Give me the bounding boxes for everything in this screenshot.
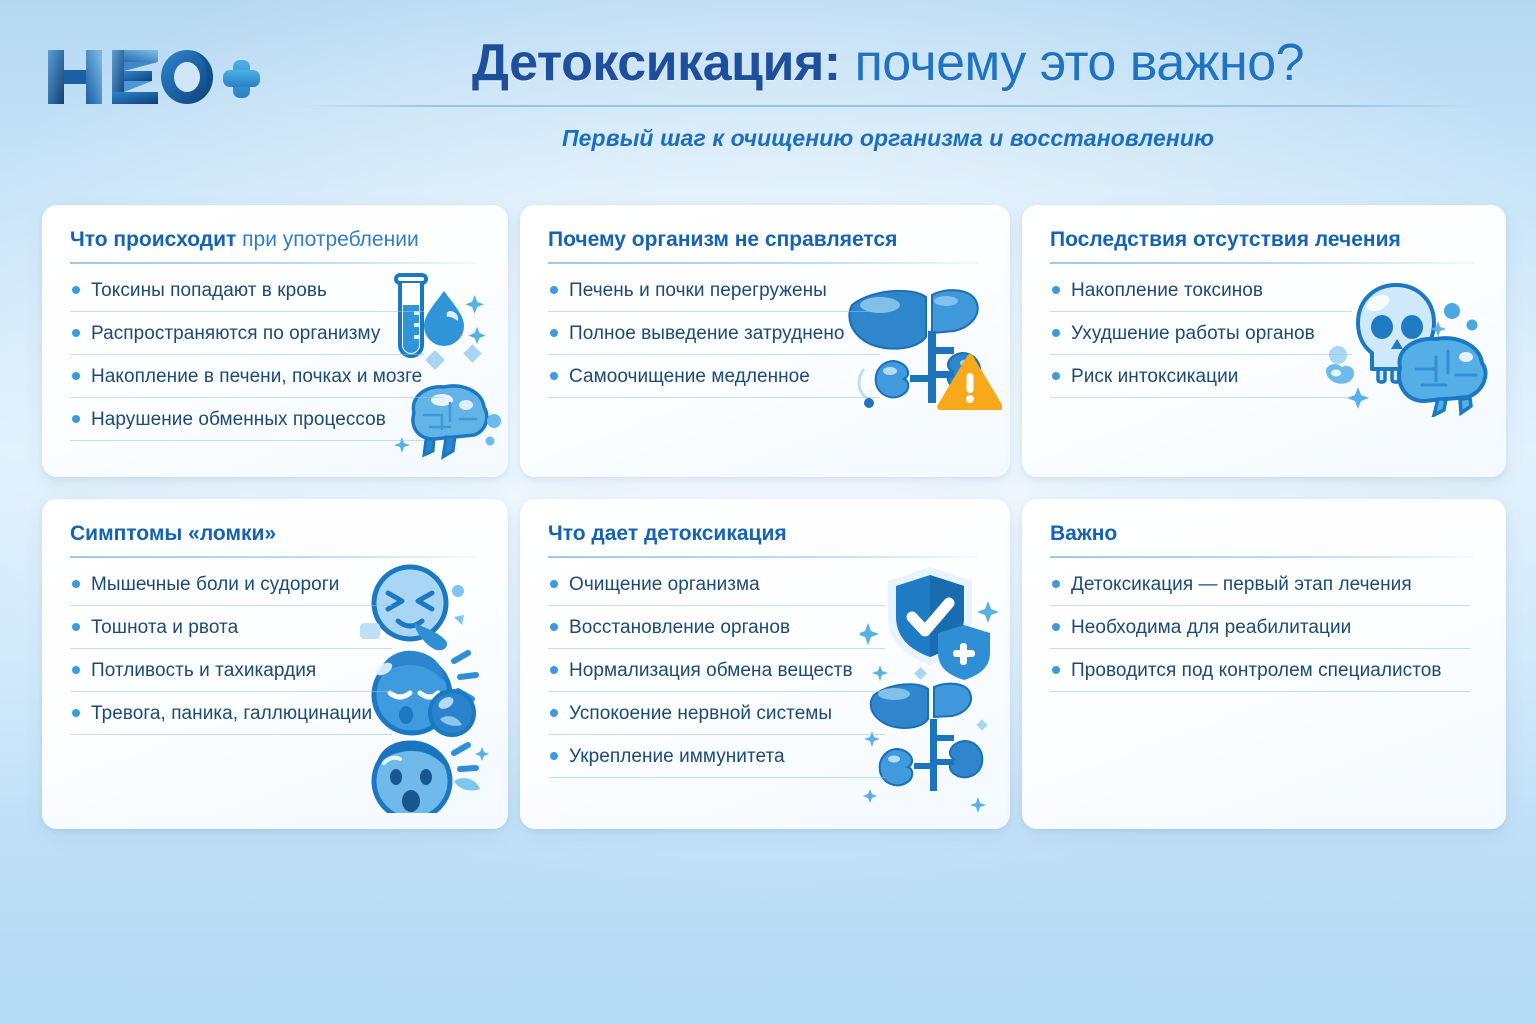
bullet-icon bbox=[72, 329, 80, 337]
card-items: Очищение организма Восстановление органо… bbox=[548, 574, 986, 778]
list-item-label: Полное выведение затруднено bbox=[569, 323, 845, 345]
card-why-body-fails: Почему организм не справляется bbox=[520, 205, 1010, 477]
list-item: Полное выведение затруднено bbox=[548, 323, 880, 355]
list-item: Укрепление иммунитета bbox=[548, 746, 885, 778]
list-item: Проводится под контролем специалистов bbox=[1050, 660, 1470, 692]
list-item: Распространяются по организму bbox=[70, 323, 424, 355]
card-title-strong: Последствия отсутствия лечения bbox=[1050, 228, 1401, 251]
card-title-divider bbox=[70, 556, 476, 558]
list-item: Мышечные боли и судороги bbox=[70, 574, 392, 606]
card-title-strong: Симптомы «ломки» bbox=[70, 522, 276, 545]
page-title: Детоксикация: почему это важно? bbox=[278, 36, 1498, 91]
card-items: Токсины попадают в кровь Распространяютс… bbox=[70, 280, 484, 441]
bullet-icon bbox=[550, 709, 558, 717]
card-title-light: при употреблении bbox=[236, 228, 418, 251]
bullet-icon bbox=[550, 580, 558, 588]
bullet-icon bbox=[550, 623, 558, 631]
list-item-label: Потливость и тахикардия bbox=[91, 660, 316, 682]
infographic-page: Детоксикация: почему это важно? Первый ш… bbox=[0, 0, 1536, 1024]
bullet-icon bbox=[1052, 666, 1060, 674]
list-item: Тревога, паника, галлюцинации bbox=[70, 703, 392, 735]
page-subtitle: Первый шаг к очищению организма и восста… bbox=[278, 125, 1498, 152]
list-item-label: Мышечные боли и судороги bbox=[91, 574, 339, 596]
card-title: Что дает детоксикация bbox=[548, 521, 986, 546]
card-items: Печень и почки перегружены Полное выведе… bbox=[548, 280, 986, 398]
list-item-label: Укрепление иммунитета bbox=[569, 746, 785, 768]
card-items: Мышечные боли и судороги Тошнота и рвота… bbox=[70, 574, 484, 735]
bullet-icon bbox=[72, 709, 80, 717]
list-item-label: Проводится под контролем специалистов bbox=[1071, 660, 1442, 682]
bullet-icon bbox=[550, 286, 558, 294]
card-title-strong: Что происходит bbox=[70, 228, 236, 251]
card-title: Последствия отсутствия лечения bbox=[1050, 227, 1482, 252]
card-items: Накопление токсинов Ухудшение работы орг… bbox=[1050, 280, 1482, 398]
bullet-icon bbox=[72, 623, 80, 631]
list-item-label: Риск интоксикации bbox=[1071, 366, 1238, 388]
page-title-strong: Детоксикация: bbox=[472, 34, 841, 92]
bullet-icon bbox=[72, 580, 80, 588]
list-item-label: Самоочищение медленное bbox=[569, 366, 810, 388]
list-item-label: Накопление в печени, почках и мозге bbox=[91, 366, 422, 388]
card-title-divider bbox=[548, 556, 978, 558]
title-block: Детоксикация: почему это важно? Первый ш… bbox=[278, 36, 1498, 152]
logo-letter-e bbox=[112, 50, 158, 104]
card-title-divider bbox=[548, 262, 978, 264]
list-item: Нарушение обменных процессов bbox=[70, 409, 424, 441]
card-title-divider bbox=[70, 262, 476, 264]
page-title-light: почему это важно? bbox=[841, 34, 1304, 92]
bullet-icon bbox=[550, 666, 558, 674]
neo-plus-logo bbox=[42, 44, 260, 110]
card-title: Что происходит при употреблении bbox=[70, 227, 484, 252]
bullet-icon bbox=[1052, 580, 1060, 588]
list-item-label: Восстановление органов bbox=[569, 617, 790, 639]
logo-letter-o bbox=[161, 50, 213, 104]
card-title-strong: Важно bbox=[1050, 522, 1117, 545]
list-item: Самоочищение медленное bbox=[548, 366, 880, 398]
card-consequences-no-treatment: Последствия отсутствия лечения bbox=[1022, 205, 1506, 477]
bullet-icon bbox=[1052, 329, 1060, 337]
logo-plus-icon bbox=[223, 60, 260, 98]
bullet-icon bbox=[550, 372, 558, 380]
list-item: Накопление токсинов bbox=[1050, 280, 1352, 312]
list-item: Тошнота и рвота bbox=[70, 617, 392, 649]
bullet-icon bbox=[72, 666, 80, 674]
logo-svg bbox=[42, 44, 260, 110]
list-item-label: Тревога, паника, галлюцинации bbox=[91, 703, 372, 725]
bullet-icon bbox=[72, 372, 80, 380]
list-item: Потливость и тахикардия bbox=[70, 660, 392, 692]
card-title-divider bbox=[1050, 262, 1474, 264]
list-item: Необходима для реабилитации bbox=[1050, 617, 1470, 649]
card-important: Важно Детоксикация — первый этап лечения… bbox=[1022, 499, 1506, 829]
card-title: Почему организм не справляется bbox=[548, 227, 986, 252]
list-item-label: Детоксикация — первый этап лечения bbox=[1071, 574, 1412, 596]
card-title-strong: Что дает детоксикация bbox=[548, 522, 787, 545]
list-item: Восстановление органов bbox=[548, 617, 885, 649]
list-item-label: Тошнота и рвота bbox=[91, 617, 238, 639]
list-item-label: Очищение организма bbox=[569, 574, 760, 596]
list-item: Очищение организма bbox=[548, 574, 885, 606]
list-item-label: Успокоение нервной системы bbox=[569, 703, 832, 725]
bullet-icon bbox=[1052, 372, 1060, 380]
card-title-strong: Почему организм не справляется bbox=[548, 228, 897, 251]
card-withdrawal-symptoms: Симптомы «ломки» bbox=[42, 499, 508, 829]
list-item: Печень и почки перегружены bbox=[548, 280, 880, 312]
bullet-icon bbox=[72, 415, 80, 423]
bullet-icon bbox=[72, 286, 80, 294]
list-item-label: Токсины попадают в кровь bbox=[91, 280, 327, 302]
list-item-label: Распространяются по организму bbox=[91, 323, 380, 345]
card-title: Симптомы «ломки» bbox=[70, 521, 484, 546]
list-item-label: Накопление токсинов bbox=[1071, 280, 1263, 302]
card-items: Детоксикация — первый этап лечения Необх… bbox=[1050, 574, 1482, 692]
bullet-icon bbox=[1052, 286, 1060, 294]
list-item: Нормализация обмена веществ bbox=[548, 660, 885, 692]
shocked-face-icon bbox=[374, 741, 489, 813]
list-item-label: Нарушение обменных процессов bbox=[91, 409, 386, 431]
title-divider bbox=[298, 105, 1478, 107]
bullet-icon bbox=[550, 329, 558, 337]
card-detox-benefits: Что дает детоксикация bbox=[520, 499, 1010, 829]
bullet-icon bbox=[550, 752, 558, 760]
list-item-label: Ухудшение работы органов bbox=[1071, 323, 1315, 345]
list-item: Детоксикация — первый этап лечения bbox=[1050, 574, 1470, 606]
list-item: Ухудшение работы органов bbox=[1050, 323, 1352, 355]
list-item-label: Необходима для реабилитации bbox=[1071, 617, 1351, 639]
list-item-label: Печень и почки перегружены bbox=[569, 280, 827, 302]
bullet-icon bbox=[1052, 623, 1060, 631]
page-header: Детоксикация: почему это важно? Первый ш… bbox=[0, 0, 1536, 190]
list-item: Накопление в печени, почках и мозге bbox=[70, 366, 444, 398]
card-what-happens: Что происходит при употреблении bbox=[42, 205, 508, 477]
list-item: Успокоение нервной системы bbox=[548, 703, 885, 735]
list-item: Риск интоксикации bbox=[1050, 366, 1352, 398]
cards-grid: Что происходит при употреблении bbox=[42, 205, 1494, 829]
logo-letter-n bbox=[48, 50, 102, 104]
list-item: Токсины попадают в кровь bbox=[70, 280, 424, 312]
list-item-label: Нормализация обмена веществ bbox=[569, 660, 853, 682]
card-title-divider bbox=[1050, 556, 1474, 558]
card-title: Важно bbox=[1050, 521, 1482, 546]
